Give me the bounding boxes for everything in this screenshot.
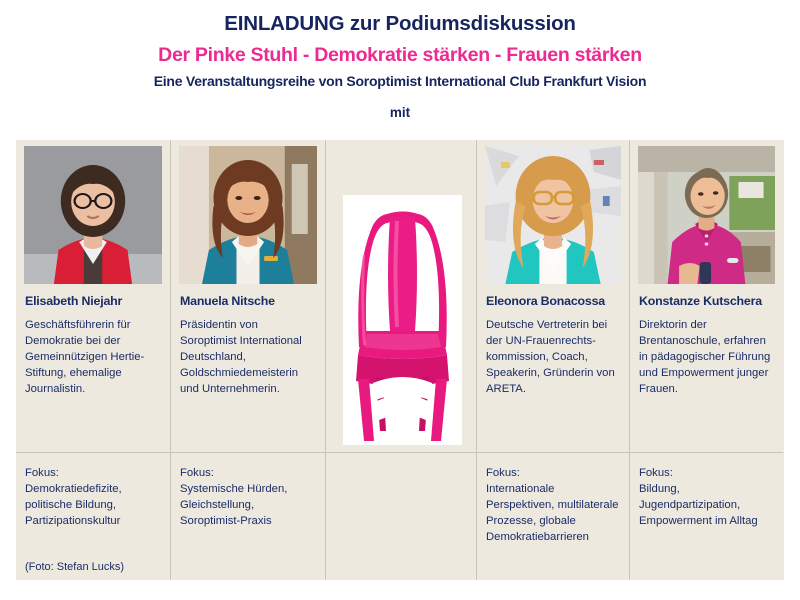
card-divider: [326, 452, 476, 453]
panelist-bio: Deutsche Vertreterin bei der UN-Frauenre…: [477, 308, 629, 397]
portrait-elisabeth-niejahr: [24, 146, 162, 284]
panelist-card-4: Eleonora Bonacossa Deutsche Vertreterin …: [476, 140, 629, 580]
panelist-name: Konstanze Kutschera: [630, 286, 783, 308]
panelist-bio: Präsidentin von Soroptimist Internationa…: [171, 308, 325, 397]
portrait-eleonora-bonacossa: [485, 146, 621, 284]
panelist-card-5: Konstanze Kutschera Direktorin der Brent…: [629, 140, 783, 580]
with-label: mit: [0, 105, 800, 120]
panelist-bio: Geschäftsführerin für Demokratie bei der…: [16, 308, 170, 397]
panelist-focus: Fokus: Demokratiedefizite, politische Bi…: [16, 465, 170, 529]
photo-container: [171, 140, 325, 286]
panelist-focus: Fokus: Systemische Hürden, Gleichstellun…: [171, 465, 325, 529]
panelist-name: Eleonora Bonacossa: [477, 286, 629, 308]
card-divider: [477, 452, 629, 453]
panelists-panel: Elisabeth Niejahr Geschäftsführerin für …: [16, 140, 784, 580]
photo-container: [630, 140, 783, 286]
panelist-card-2: Manuela Nitsche Präsidentin von Soroptim…: [170, 140, 325, 580]
photo-container: [16, 140, 170, 286]
portrait-manuela-nitsche: [179, 146, 317, 284]
page-title: EINLADUNG zur Podiumsdiskussion: [0, 11, 800, 37]
panelist-name: Elisabeth Niejahr: [16, 286, 170, 308]
card-divider: [16, 452, 170, 453]
card-divider: [630, 452, 783, 453]
card-divider: [171, 452, 325, 453]
panelist-card-1: Elisabeth Niejahr Geschäftsführerin für …: [16, 140, 170, 580]
panelist-focus: Fokus: Bildung, Jugendpartizipation, Emp…: [630, 465, 783, 529]
panelist-focus: Fokus: Internationale Perspektiven, mult…: [477, 465, 629, 545]
photo-credit: (Foto: Stefan Lucks): [16, 561, 170, 573]
pink-chair-image: [343, 195, 462, 445]
panelist-bio: Direktorin der Brentanoschule, erfahren …: [630, 308, 783, 397]
photo-container: [477, 140, 629, 286]
portrait-konstanze-kutschera: [638, 146, 775, 284]
invitation-header: EINLADUNG zur Podiumsdiskussion Der Pink…: [0, 0, 800, 120]
panelist-name: Manuela Nitsche: [171, 286, 325, 308]
organizer-line: Eine Veranstaltungsreihe von Soroptimist…: [0, 73, 800, 91]
pink-chair-card: [325, 140, 476, 580]
event-series-title: Der Pinke Stuhl - Demokratie stärken - F…: [0, 43, 800, 67]
